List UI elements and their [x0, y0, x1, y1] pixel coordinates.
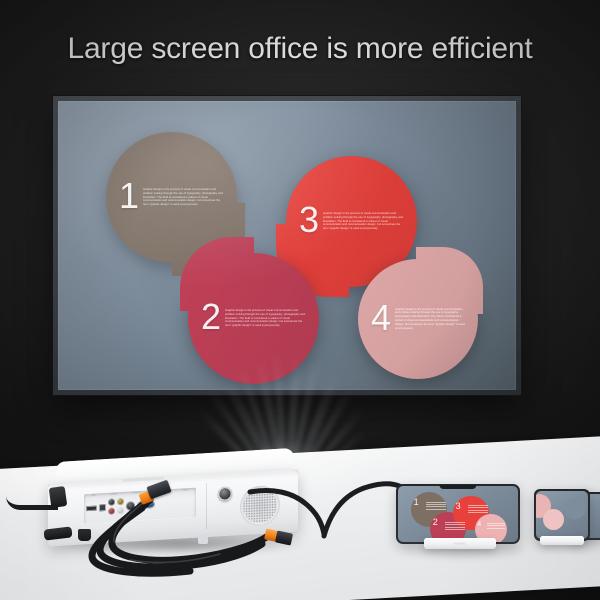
screenshot-root: Large screen office is more efficient 1 … — [0, 0, 600, 600]
port-label-computer: COMPUTER — [156, 490, 168, 493]
phone-1-screen[interactable]: 1 2 3 4 — [398, 486, 518, 542]
projector-device: USB AUDIO S-VIDEO COMPUTER VIDEO — [48, 455, 298, 547]
port-label-audio: AUDIO — [111, 493, 118, 495]
bubble-3-number: 3 — [299, 205, 319, 236]
s-video-port-icon[interactable] — [126, 501, 135, 511]
composite-jack-group — [117, 498, 124, 514]
phone-bubble-3-number: 3 — [456, 502, 461, 511]
usb-a-port-icon[interactable] — [86, 505, 97, 511]
bubble-2-content: 2 Graphic design is the process of visua… — [188, 253, 319, 384]
audio-jack-port-icon[interactable] — [108, 498, 115, 505]
bubble-4-text: Graphic design is the process of visual … — [395, 308, 467, 331]
bubble-3-text: Graphic design is the process of visual … — [323, 212, 406, 231]
projector-panel-seam — [206, 483, 207, 529]
power-cable-plug — [40, 487, 76, 509]
rca-white-port-icon[interactable] — [117, 507, 124, 514]
port-label-video: VIDEO — [182, 489, 188, 491]
power-plug-body — [49, 486, 68, 508]
phone-stand-brand: HUAWEI — [424, 542, 496, 545]
phone-2-screen — [536, 491, 588, 539]
phone-device-2 — [534, 489, 590, 541]
vga-port-icon[interactable] — [137, 500, 155, 509]
infographic-bubble-1: 1 Graphic design is the process of visua… — [106, 132, 237, 263]
phone-stand-1: HUAWEI — [424, 538, 496, 549]
rca-red-port-icon[interactable] — [108, 507, 115, 514]
phone-stand-2 — [540, 536, 584, 545]
phone-device-1[interactable]: 1 2 3 4 — [396, 484, 520, 544]
phone-bubble-2-number: 2 — [433, 518, 438, 527]
phone-bubble-4-lines — [487, 523, 505, 533]
audio-jack-group — [108, 498, 115, 514]
infographic-bubble-4: 4 Graphic design is the process of visua… — [358, 259, 478, 379]
rca-yellow-port-icon[interactable] — [117, 498, 124, 505]
bubble-1-content: 1 Graphic design is the process of visua… — [106, 132, 237, 263]
projector-port-bay: USB AUDIO S-VIDEO COMPUTER VIDEO — [84, 488, 196, 525]
usb-b-port-icon[interactable] — [99, 503, 106, 510]
infographic-bubble-2: 2 Graphic design is the process of visua… — [188, 253, 319, 384]
bubble-4-content: 4 Graphic design is the process of visua… — [358, 259, 478, 379]
phone-bubble-1-lines — [426, 502, 446, 515]
phone-bubble-4-number: 4 — [477, 521, 481, 528]
speaker-grille-icon — [240, 485, 280, 527]
bubble-2-number: 2 — [201, 302, 221, 333]
bubble-1-number: 1 — [119, 181, 139, 212]
bubble-1-text: Graphic design is the process of visual … — [143, 188, 226, 207]
video-out-port-icon[interactable] — [218, 486, 232, 501]
phone-notch — [439, 485, 476, 489]
bubble-2-text: Graphic design is the process of visual … — [225, 309, 308, 328]
port-label-svideo: S-VIDEO — [132, 492, 140, 495]
bubble-4-number: 4 — [371, 303, 391, 334]
phone-bubble-1-number: 1 — [414, 498, 419, 507]
phone-bubble-3-lines — [468, 505, 488, 517]
projector-foot-center — [198, 535, 208, 544]
projector-ports — [86, 494, 194, 516]
projector-foot-left — [78, 529, 91, 541]
port-label-usb: USB — [91, 495, 95, 497]
phone-bubble-2-lines — [445, 522, 465, 534]
